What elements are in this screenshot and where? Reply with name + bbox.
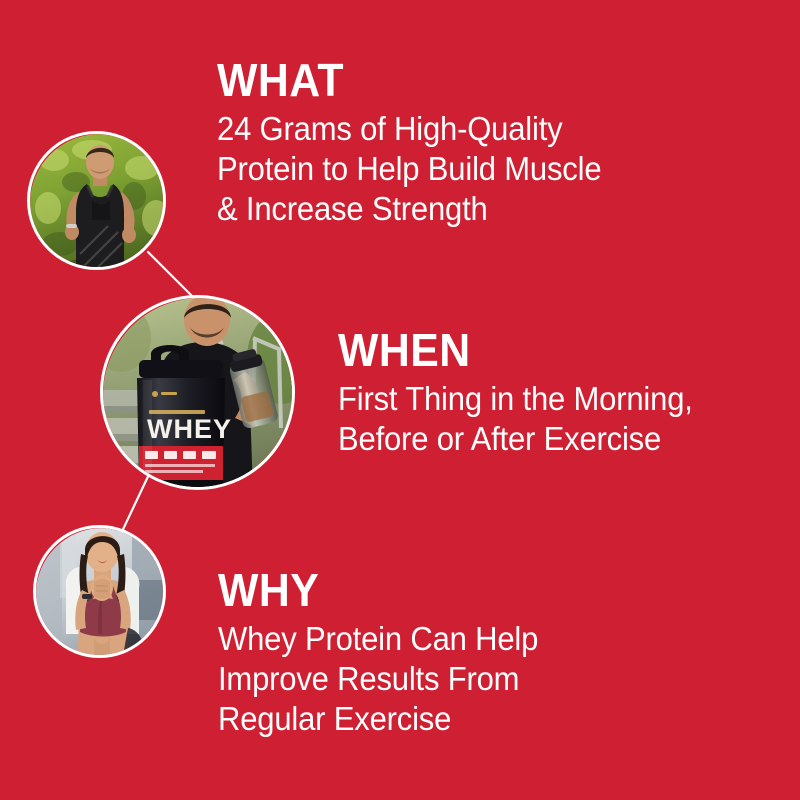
body-why-line-3: Regular Exercise xyxy=(218,699,538,739)
runner-photo xyxy=(30,134,163,267)
info-block-why: WHY Whey Protein Can Help Improve Result… xyxy=(218,567,559,739)
body-why-line-1: Whey Protein Can Help xyxy=(218,619,538,659)
runner-illustration xyxy=(30,134,163,267)
info-block-when: WHEN First Thing in the Morning, Before … xyxy=(338,327,715,459)
connector-runner-to-whey xyxy=(148,252,196,300)
photo-circle-woman-gym xyxy=(33,525,166,658)
body-when: First Thing in the Morning, Before or Af… xyxy=(338,379,693,459)
body-what-line-3: & Increase Strength xyxy=(217,189,601,229)
heading-when: WHEN xyxy=(338,327,689,373)
info-block-what: WHAT 24 Grams of High-Quality Protein to… xyxy=(217,57,626,229)
photo-circle-whey-tub: WHEY xyxy=(100,295,295,490)
photo-circle-runner xyxy=(27,131,166,270)
body-when-line-2: Before or After Exercise xyxy=(338,419,693,459)
body-when-line-1: First Thing in the Morning, xyxy=(338,379,693,419)
body-why: Whey Protein Can Help Improve Results Fr… xyxy=(218,619,538,739)
infographic-poster: WHEY xyxy=(0,0,800,800)
whey-tub-illustration: WHEY xyxy=(103,298,292,487)
body-what: 24 Grams of High-Quality Protein to Help… xyxy=(217,109,601,229)
body-what-line-1: 24 Grams of High-Quality xyxy=(217,109,601,149)
heading-why: WHY xyxy=(218,567,535,613)
heading-what: WHAT xyxy=(217,57,597,103)
svg-text:WHEY: WHEY xyxy=(147,414,232,444)
woman-gym-illustration xyxy=(36,528,163,655)
body-what-line-2: Protein to Help Build Muscle xyxy=(217,149,601,189)
body-why-line-2: Improve Results From xyxy=(218,659,538,699)
whey-tub-photo: WHEY xyxy=(103,298,292,487)
woman-gym-photo xyxy=(36,528,163,655)
